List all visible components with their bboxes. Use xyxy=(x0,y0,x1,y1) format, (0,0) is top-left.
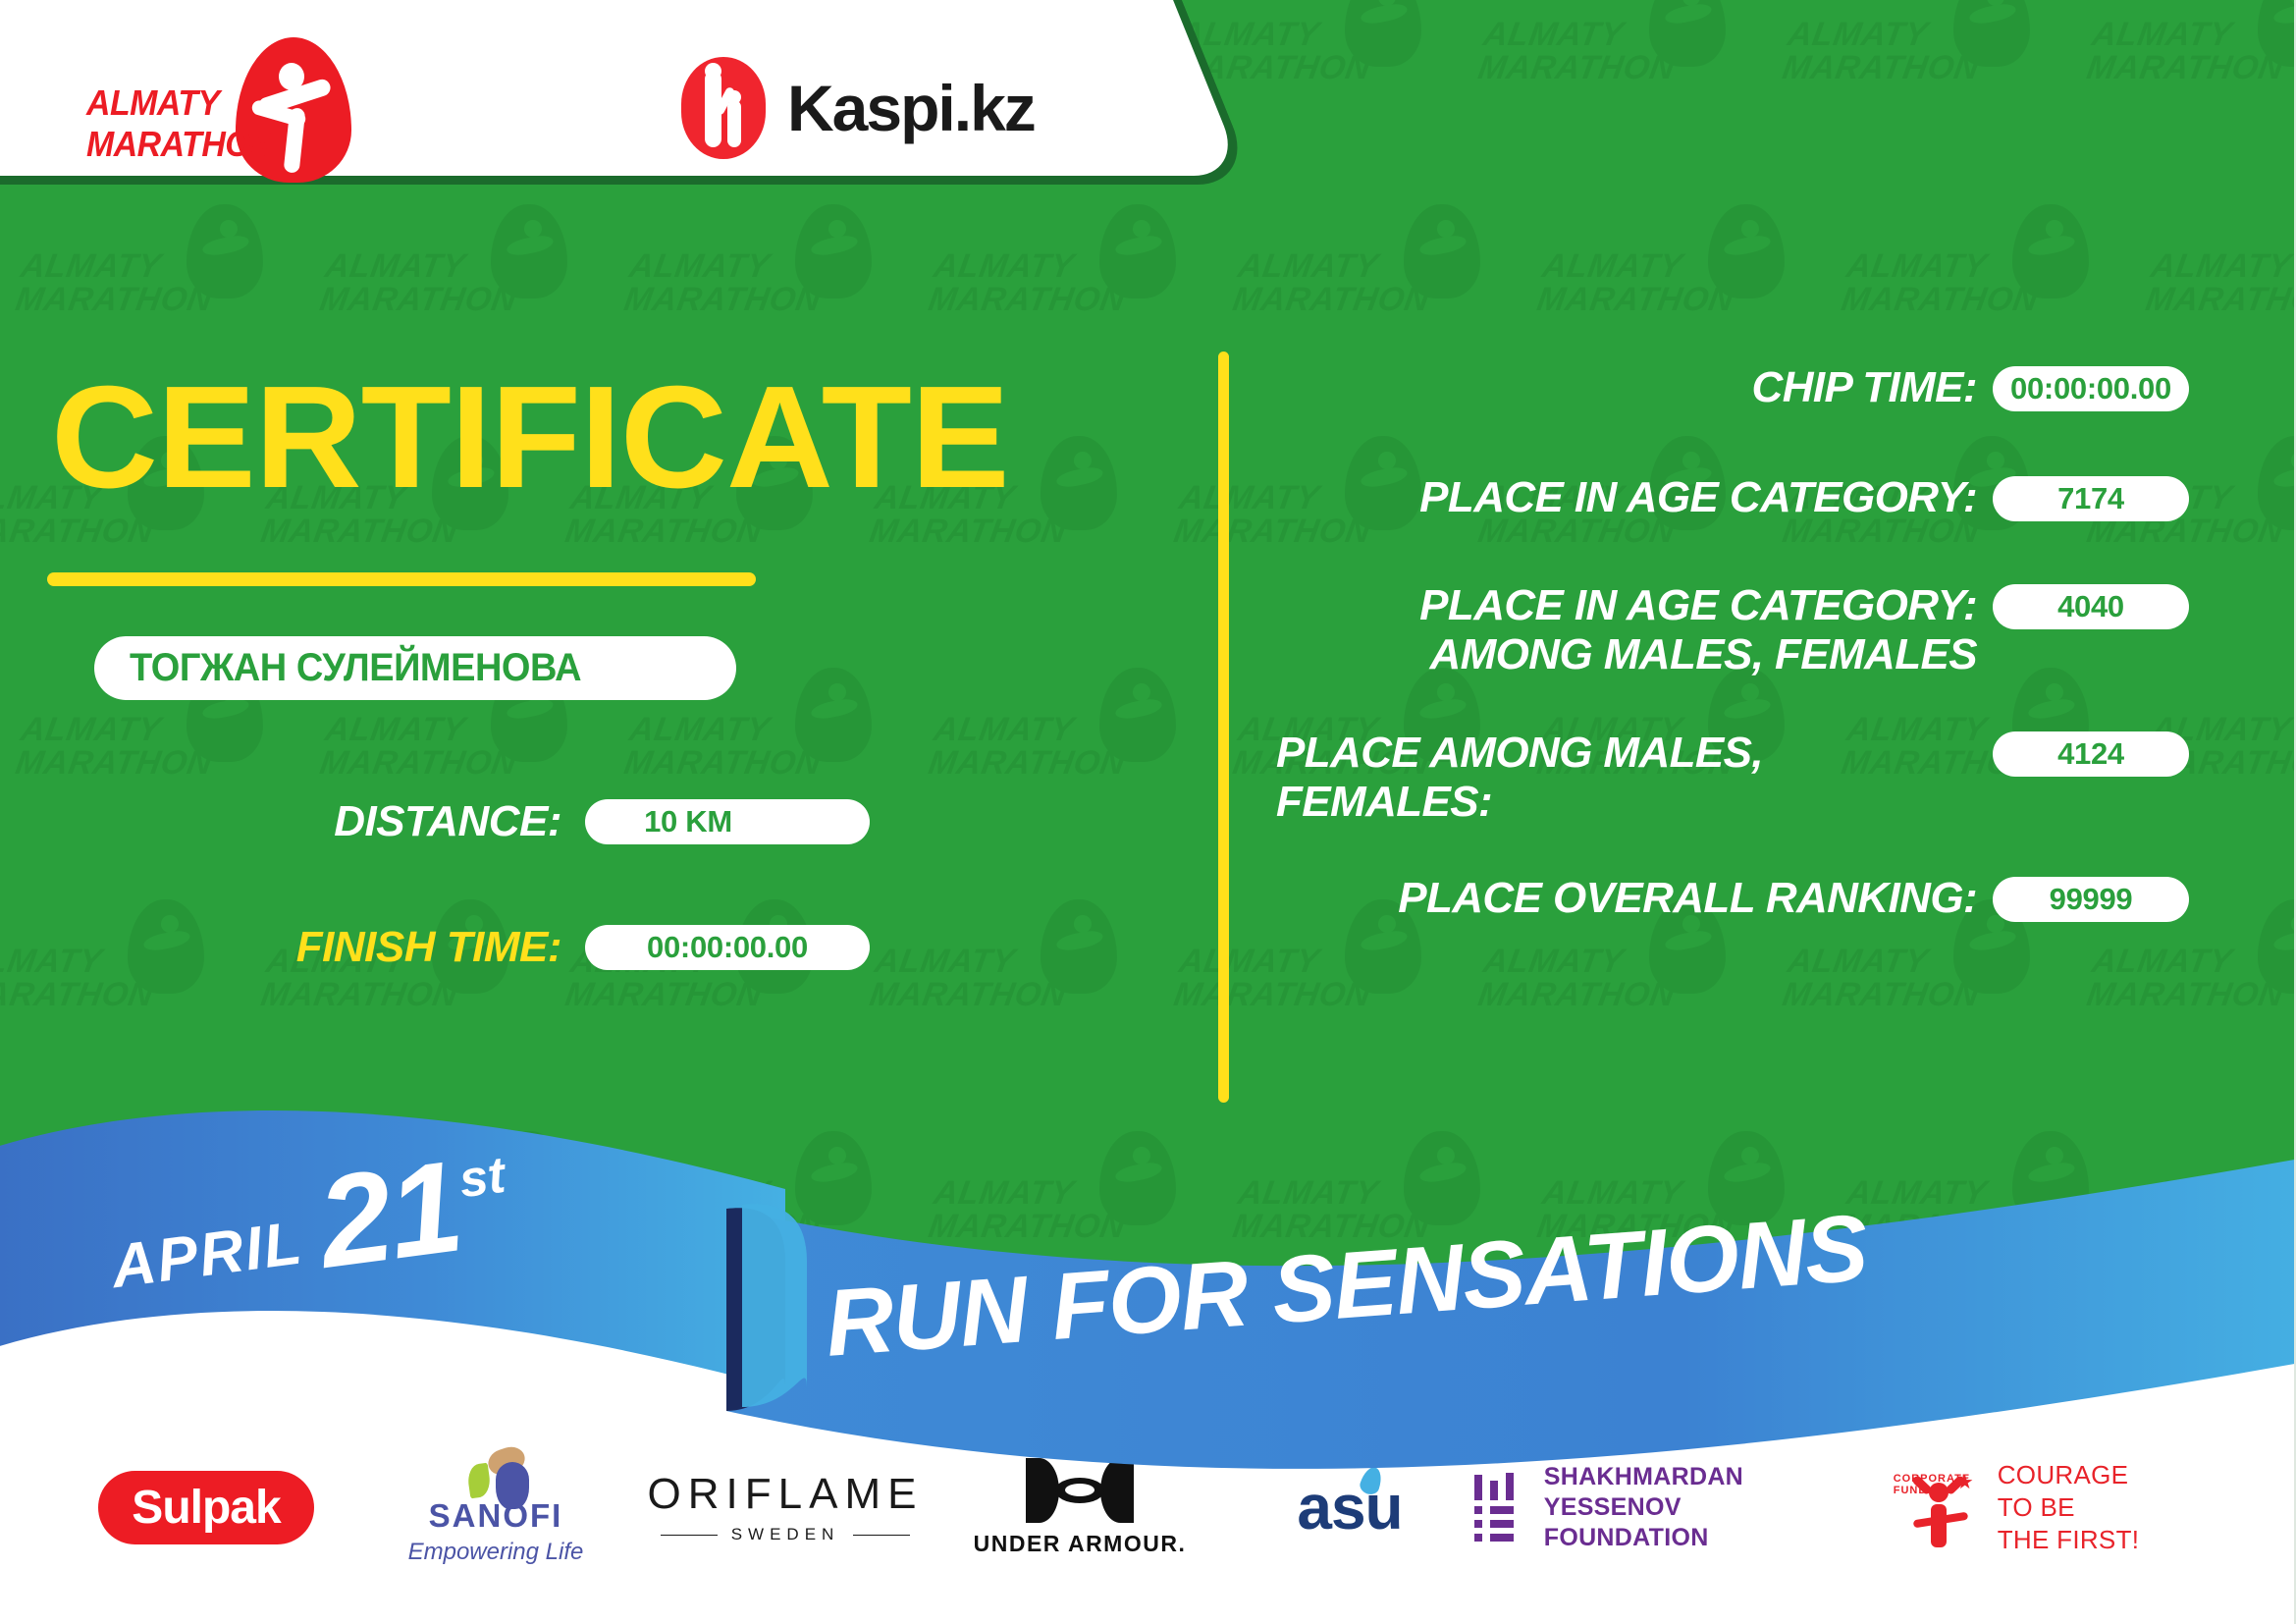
place-among-gender-value: 4124 xyxy=(2057,736,2124,772)
place-overall-value: 99999 xyxy=(2050,882,2133,917)
certificate-page: ALMATYMARATHONALMATYMARATHONALMATYMARATH… xyxy=(0,0,2296,1624)
stat-row: PLACE IN AGE CATEGORY: 7174 xyxy=(1276,473,2189,522)
sanofi-tagline: Empowering Life xyxy=(408,1539,584,1566)
sanofi-logo-text: SANOFI xyxy=(429,1497,563,1535)
place-age-category-label: PLACE IN AGE CATEGORY: xyxy=(1276,473,1993,522)
stat-row: PLACE OVERALL RANKING: 99999 xyxy=(1276,874,2189,923)
title-underline xyxy=(47,572,756,586)
yessenov-line2: FOUNDATION xyxy=(1544,1523,1855,1553)
watermark-tile: ALMATYMARATHON xyxy=(312,202,581,350)
chip-time-value-pill: 00:00:00.00 xyxy=(1993,366,2189,411)
finish-time-label: FINISH TIME: xyxy=(267,923,561,972)
kaspi-family-icon xyxy=(681,57,766,159)
watermark-tile: ALMATYMARATHON xyxy=(2138,202,2296,350)
watermark-tile: ALMATYMARATHON xyxy=(1225,202,1494,350)
distance-row: DISTANCE: 10 KM xyxy=(267,797,870,846)
almaty-logo-line1: ALMATY xyxy=(86,82,234,124)
watermark-tile: ALMATYMARATHON xyxy=(1470,0,1739,118)
place-age-category-gender-value-pill: 4040 xyxy=(1993,584,2189,629)
place-overall-label: PLACE OVERALL RANKING: xyxy=(1276,874,1993,923)
finish-time-row: FINISH TIME: 00:00:00.00 xyxy=(267,923,870,972)
ribbon-month: APRIL xyxy=(107,1209,307,1303)
distance-value-pill: 10 KM xyxy=(585,799,870,844)
kaspi-logo: Kaspi.kz xyxy=(681,57,1035,159)
watermark-tile: ALMATYMARATHON xyxy=(1775,0,2044,118)
chip-time-label: CHIP TIME: xyxy=(1276,363,1993,412)
courage-line3: THE FIRST! xyxy=(1998,1524,2140,1556)
header-logos: ALMATY MARATHON Kaspi.kz xyxy=(0,0,1227,187)
place-age-category-gender-value: 4040 xyxy=(2057,589,2124,624)
sulpak-logo-text: Sulpak xyxy=(98,1471,313,1544)
watermark-tile: ALMATYMARATHON xyxy=(8,202,277,350)
finish-time-value-pill: 00:00:00.00 xyxy=(585,925,870,970)
watermark-tile: ALMATYMARATHON xyxy=(862,897,1131,1045)
asu-logo-text: asu xyxy=(1297,1471,1402,1543)
stat-row: PLACE IN AGE CATEGORY:AMONG MALES, FEMAL… xyxy=(1276,581,2189,679)
watermark-tile: ALMATYMARATHON xyxy=(616,202,885,350)
chip-time-value: 00:00:00.00 xyxy=(2010,371,2171,406)
oriflame-rule-left xyxy=(661,1535,718,1536)
participant-name: ТОГЖАН СУЛЕЙМЕНОВА xyxy=(130,646,581,690)
place-among-gender-label: PLACE AMONG MALES,FEMALES: xyxy=(1276,729,1993,827)
watermark-tile: ALMATYMARATHON xyxy=(921,666,1190,813)
vertical-divider xyxy=(1218,352,1229,1103)
ribbon-day-suffix: st xyxy=(455,1146,508,1211)
oriflame-tagline: SWEDEN xyxy=(731,1525,840,1544)
place-overall-value-pill: 99999 xyxy=(1993,877,2189,922)
certificate-title: CERTIFICATE xyxy=(51,365,1009,511)
almaty-marathon-logo: ALMATY MARATHON xyxy=(86,37,351,155)
watermark-tile: ALMATYMARATHON xyxy=(2079,0,2296,118)
watermark-tile: ALMATYMARATHON xyxy=(921,202,1190,350)
under-armour-logo-text: UNDER ARMOUR. xyxy=(974,1531,1187,1557)
distance-value: 10 KM xyxy=(644,804,732,839)
ribbon-banner: APRIL 21 st RUN FOR SENSATIONS xyxy=(0,1065,2296,1478)
kaspi-logo-text: Kaspi.kz xyxy=(787,71,1035,145)
place-age-category-value: 7174 xyxy=(2057,481,2124,516)
place-age-category-gender-label: PLACE IN AGE CATEGORY:AMONG MALES, FEMAL… xyxy=(1276,581,1993,679)
place-age-category-value-pill: 7174 xyxy=(1993,476,2189,521)
distance-label: DISTANCE: xyxy=(267,797,561,846)
oriflame-rule-right xyxy=(853,1535,910,1536)
stat-row: CHIP TIME: 00:00:00.00 xyxy=(1276,363,2189,412)
ribbon-day: 21 xyxy=(312,1144,467,1284)
finish-time-value: 00:00:00.00 xyxy=(647,930,808,965)
asu-label: asu xyxy=(1297,1472,1402,1543)
almaty-logo-line2: MARATHON xyxy=(86,124,234,165)
courage-line2: TO BE xyxy=(1998,1491,2140,1524)
yessenov-icon xyxy=(1472,1473,1522,1542)
stat-row: PLACE AMONG MALES,FEMALES: 4124 xyxy=(1276,729,2189,827)
participant-name-field: ТОГЖАН СУЛЕЙМЕНОВА xyxy=(94,636,736,700)
place-among-gender-value-pill: 4124 xyxy=(1993,731,2189,777)
watermark-tile: ALMATYMARATHON xyxy=(0,897,218,1045)
watermark-tile: ALMATYMARATHON xyxy=(1529,202,1798,350)
watermark-tile: ALMATYMARATHON xyxy=(1834,202,2103,350)
